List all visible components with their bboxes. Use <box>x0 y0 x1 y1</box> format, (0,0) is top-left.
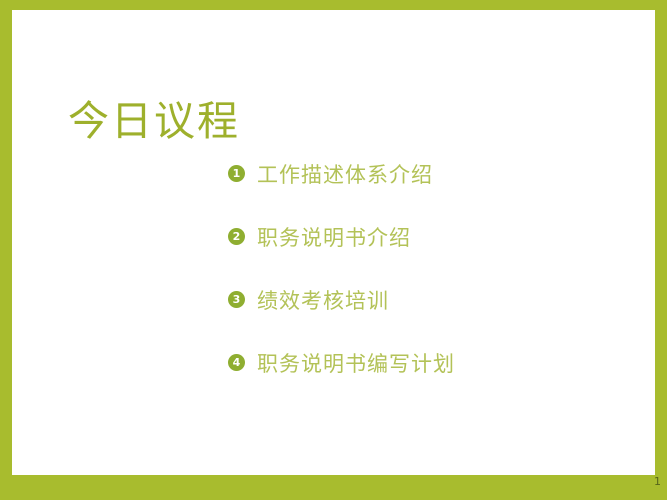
list-item[interactable]: 4 职务说明书编写计划 <box>228 331 455 394</box>
list-item[interactable]: 1 工作描述体系介绍 <box>228 142 455 205</box>
agenda-item-label: 绩效考核培训 <box>257 285 389 315</box>
page-title: 今日议程 <box>68 99 240 145</box>
list-item[interactable]: 3 绩效考核培训 <box>228 268 455 331</box>
agenda-item-label: 职务说明书编写计划 <box>257 348 455 378</box>
agenda-item-label: 职务说明书介绍 <box>257 222 411 252</box>
filled-circle-number-two-icon: 2 <box>228 228 245 245</box>
agenda-item-label: 工作描述体系介绍 <box>257 159 433 189</box>
list-item[interactable]: 2 职务说明书介绍 <box>228 205 455 268</box>
filled-circle-number-four-icon: 4 <box>228 354 245 371</box>
slide-content-area: 今日议程 1 工作描述体系介绍 2 职务说明书介绍 3 绩效考核培训 4 职务说… <box>12 10 655 475</box>
presentation-slide: 今日议程 1 工作描述体系介绍 2 职务说明书介绍 3 绩效考核培训 4 职务说… <box>0 0 667 500</box>
filled-circle-number-one-icon: 1 <box>228 165 245 182</box>
filled-circle-number-three-icon: 3 <box>228 291 245 308</box>
page-number: 1 <box>654 476 661 487</box>
agenda-list: 1 工作描述体系介绍 2 职务说明书介绍 3 绩效考核培训 4 职务说明书编写计… <box>228 142 455 394</box>
